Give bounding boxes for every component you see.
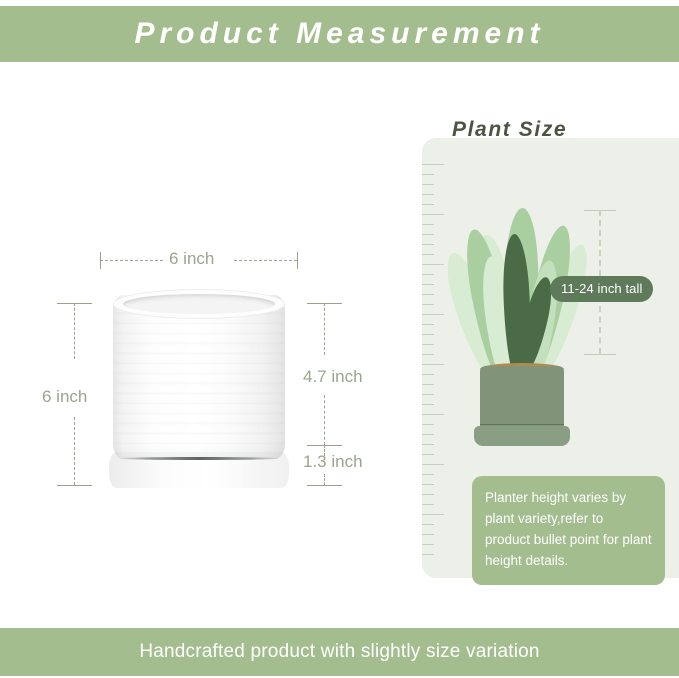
ruler-tick — [422, 494, 434, 495]
ruler-tick — [422, 304, 434, 305]
height-dim-cap-bottom — [57, 485, 92, 486]
ruler-tick — [422, 434, 434, 435]
ruler-tick — [422, 514, 444, 515]
plant-height-note: Planter height varies by plant variety,r… — [472, 476, 665, 585]
width-dim-label: 6 inch — [169, 249, 214, 269]
width-dim-cap-right — [297, 252, 298, 269]
ruler-tick — [422, 404, 434, 405]
saucer-height-line-lower — [324, 474, 325, 485]
ruler-tick — [422, 314, 444, 315]
ruler-tick — [422, 334, 434, 335]
height-dim-line-lower — [74, 417, 75, 485]
ruler-tick — [422, 324, 434, 325]
planter-body — [113, 295, 285, 459]
ruler-tick — [422, 414, 444, 415]
plant-pot-front-lip — [480, 369, 564, 379]
ruler-tick — [422, 164, 444, 165]
header-banner: Product Measurement — [0, 6, 679, 62]
ruler-tick — [422, 294, 434, 295]
plant-size-panel: 11-24 inch tall Planter height varies by… — [422, 138, 679, 578]
ruler-tick — [422, 254, 434, 255]
ruler-tick — [422, 284, 434, 285]
ruler-tick — [422, 344, 434, 345]
ruler-tick — [422, 184, 434, 185]
ruler-tick — [422, 274, 434, 275]
ruler-tick — [422, 524, 434, 525]
width-dim-line-left — [100, 260, 163, 261]
height-dim-line-upper — [74, 303, 75, 359]
ruler-tick — [422, 534, 434, 535]
page-title: Product Measurement — [134, 17, 544, 51]
width-dim-line-right — [234, 260, 297, 261]
ruler-tick — [422, 504, 434, 505]
ruler-tick — [422, 244, 434, 245]
ruler-tick — [422, 194, 434, 195]
ruler-tick — [422, 394, 434, 395]
body-height-label: 4.7 inch — [303, 367, 363, 387]
footer-banner: Handcrafted product with slightly size v… — [0, 628, 679, 676]
ruler-tick — [422, 554, 434, 555]
planter-rim-opening — [123, 294, 275, 314]
planter-illustration — [109, 289, 289, 489]
body-height-line-upper — [324, 303, 325, 355]
plant-height-line-lower — [599, 306, 601, 354]
saucer-height-cap-bottom — [307, 485, 342, 486]
ruler-tick — [422, 474, 434, 475]
ruler-tick — [422, 364, 444, 365]
ruler-tick — [422, 374, 434, 375]
plant-height-badge: 11-24 inch tall — [550, 276, 653, 302]
snake-plant-illustration — [452, 198, 592, 443]
footer-note: Handcrafted product with slightly size v… — [139, 641, 539, 663]
ruler-tick — [422, 454, 434, 455]
pot-measurement-diagram: 6 inch 6 inch 4.7 inch 1.3 inch — [0, 62, 400, 628]
ruler-tick — [422, 204, 434, 205]
body-height-line-lower — [324, 395, 325, 445]
plant-height-line-upper — [599, 210, 601, 276]
plant-height-cap-bottom — [584, 354, 616, 355]
plant-pot-saucer-seam — [480, 424, 564, 425]
ruler-tick — [422, 354, 434, 355]
ruler-tick — [422, 214, 444, 215]
plant-pot-saucer — [474, 426, 570, 446]
ruler-tick — [422, 424, 434, 425]
ruler-tick — [422, 384, 434, 385]
ruler-tick — [422, 464, 444, 465]
ruler-tick — [422, 444, 434, 445]
ruler-tick — [422, 264, 444, 265]
ruler-tick — [422, 484, 434, 485]
ruler-icon — [422, 164, 452, 554]
ruler-tick — [422, 234, 434, 235]
ruler-tick — [422, 224, 434, 225]
ruler-tick — [422, 544, 434, 545]
saucer-height-label: 1.3 inch — [303, 452, 363, 472]
ruler-tick — [422, 174, 434, 175]
height-dim-label: 6 inch — [42, 387, 87, 407]
planter-saucer-seam — [117, 457, 281, 460]
